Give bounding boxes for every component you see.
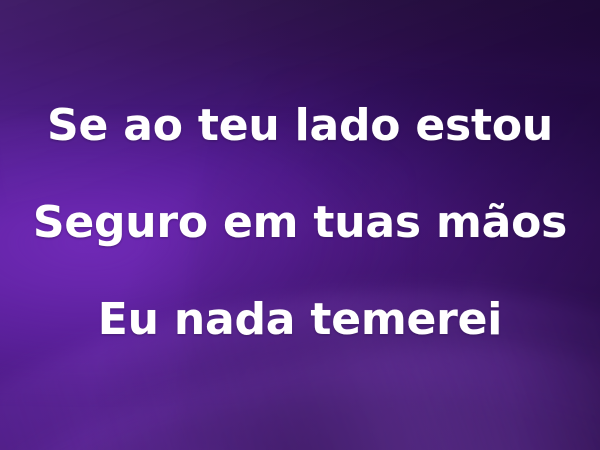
lyric-line-1: Se ao teu lado estou <box>47 104 553 148</box>
lyric-line-2: Seguro em tuas mãos <box>33 201 567 245</box>
lyric-text-block: Se ao teu lado estou Seguro em tuas mãos… <box>0 0 600 450</box>
lyric-line-3: Eu nada temerei <box>98 298 502 342</box>
lyric-slide: Se ao teu lado estou Seguro em tuas mãos… <box>0 0 600 450</box>
